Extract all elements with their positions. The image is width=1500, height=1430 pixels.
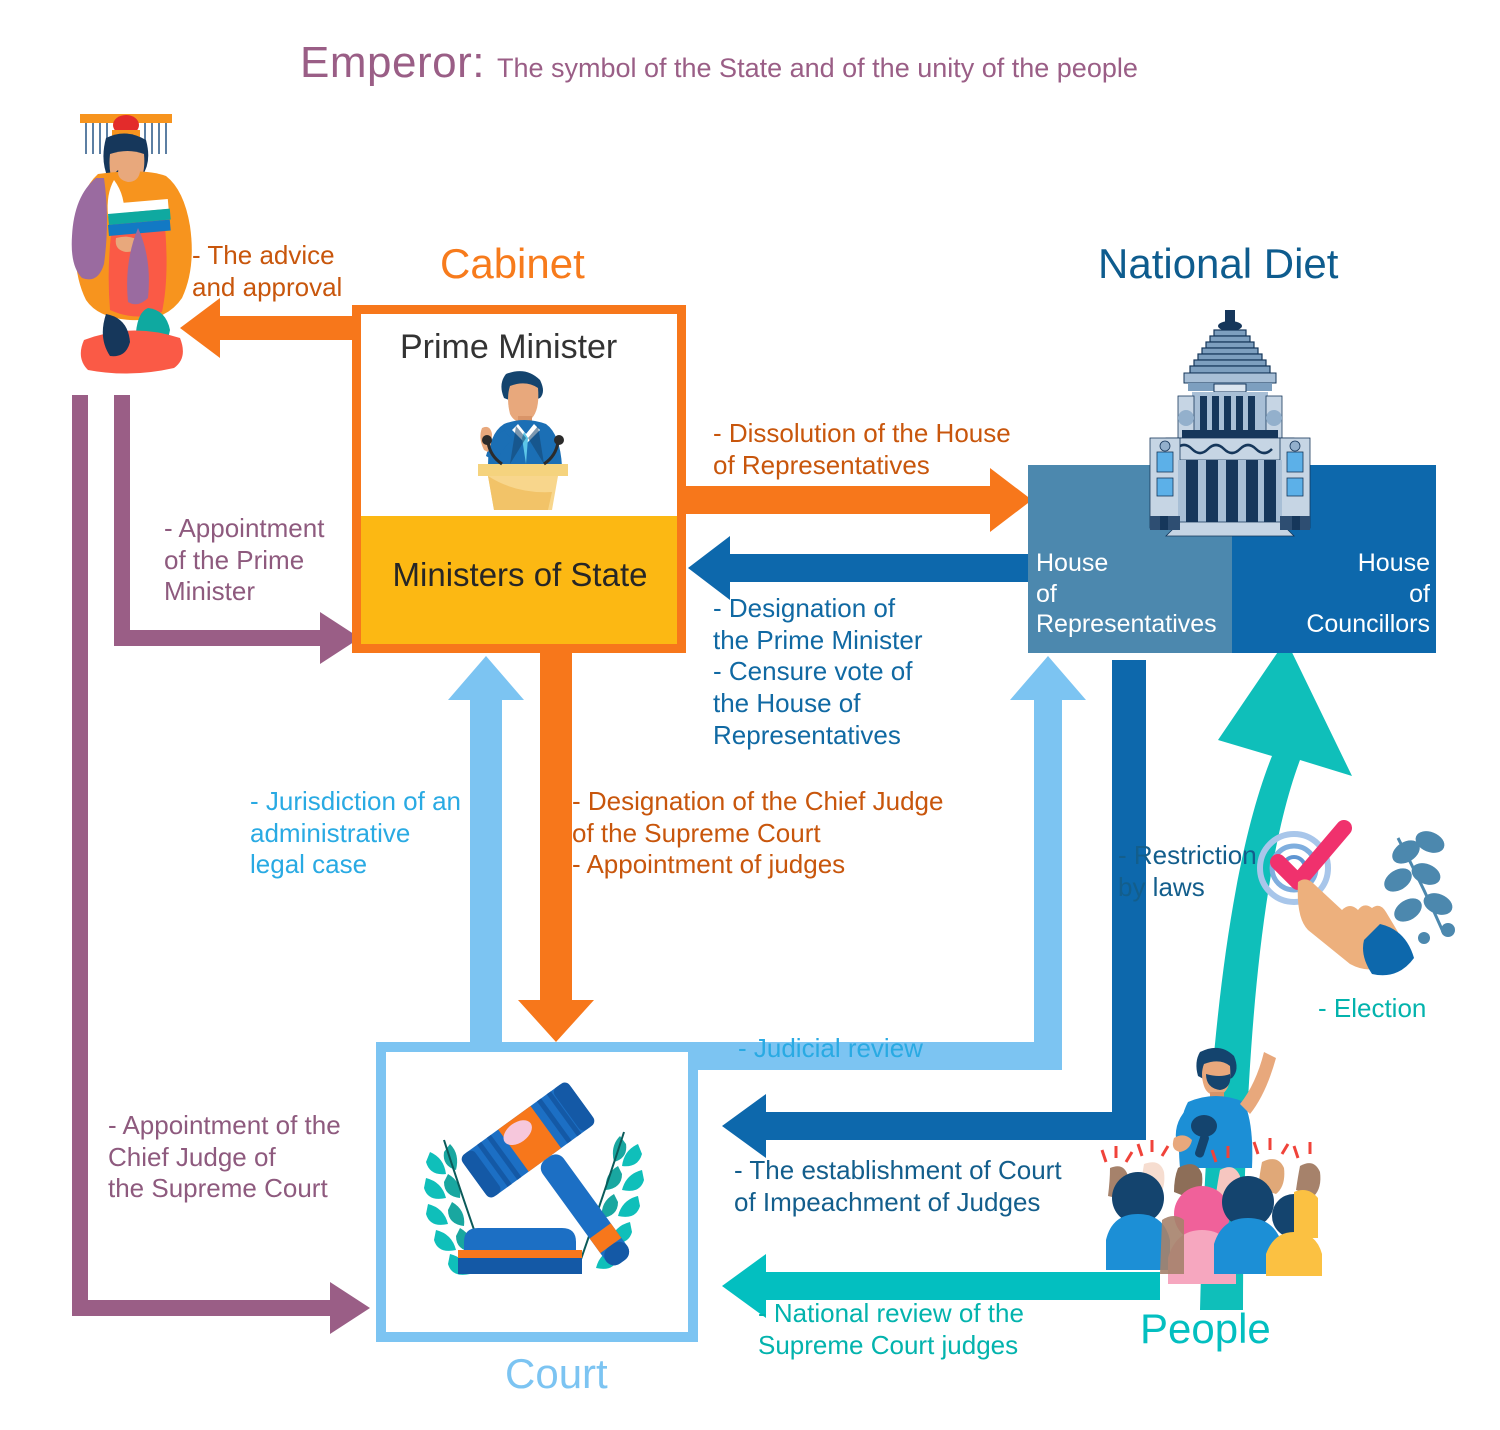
arrow-diet-to-cabinet	[688, 536, 1028, 600]
emperor-title: Emperor:	[300, 38, 485, 88]
emperor-subtitle: The symbol of the State and of the unity…	[497, 53, 1138, 84]
annotation-advice-and-approval: - The advice and approval	[192, 240, 342, 303]
gavel-laurel-icon	[398, 1070, 678, 1320]
diagram-canvas: Emperor: The symbol of the State and of …	[0, 0, 1500, 1430]
annotation-designation-and-censure: - Designation of the Prime Minister - Ce…	[713, 593, 923, 752]
ministers-of-state-label: Ministers of State	[375, 556, 665, 594]
annotation-judicial-review: - Judicial review	[738, 1033, 923, 1065]
annotation-restriction-by-laws: - Restriction by laws	[1118, 840, 1257, 903]
annotation-appointment-of-prime-minister: - Appointment of the Prime Minister	[164, 513, 324, 608]
annotation-dissolution-of-house: - Dissolution of the House of Representa…	[713, 418, 1011, 481]
annotation-appointment-chief-judge-supreme-court: - Appointment of the Chief Judge of the …	[108, 1110, 341, 1205]
people-title: People	[1140, 1305, 1271, 1353]
annotation-jurisdiction-administrative-case: - Jurisdiction of an administrative lega…	[250, 786, 461, 881]
court-title: Court	[505, 1350, 608, 1398]
cabinet-title: Cabinet	[440, 240, 585, 288]
hand-checkmark-icon	[1248, 826, 1458, 976]
prime-minister-label: Prime Minister	[400, 328, 617, 367]
annotation-election: - Election	[1318, 993, 1426, 1025]
crowd-icon	[1096, 1044, 1336, 1312]
annotation-designation-chief-judge: - Designation of the Chief Judge of the …	[572, 786, 943, 881]
national-diet-title: National Diet	[1098, 240, 1338, 288]
annotation-national-review: - National review of the Supreme Court j…	[758, 1298, 1024, 1361]
speaker-podium-icon	[448, 368, 596, 510]
diet-building-icon	[1130, 310, 1330, 550]
annotation-court-of-impeachment: - The establishment of Court of Impeachm…	[734, 1155, 1062, 1218]
page-title: Emperor: The symbol of the State and of …	[300, 38, 1138, 88]
house-of-representatives-label: House of Representatives	[1036, 548, 1226, 640]
house-of-councillors-label: House of Councillors	[1244, 548, 1430, 640]
